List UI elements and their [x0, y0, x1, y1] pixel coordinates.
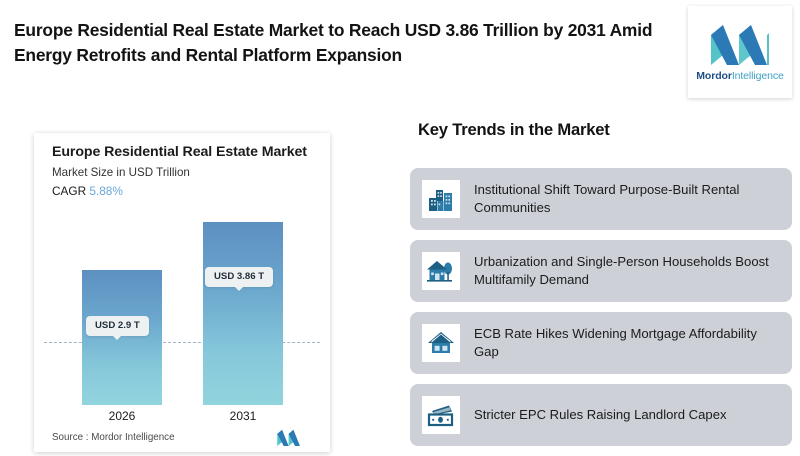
brand-logo-text: MordorIntelligence — [696, 70, 783, 82]
x-axis-label-2026: 2026 — [77, 409, 167, 423]
data-label-2026: USD 2.9 T — [86, 316, 149, 336]
house-icon — [422, 324, 460, 362]
trend-card[interactable]: Institutional Shift Toward Purpose-Built… — [410, 168, 792, 230]
brand-logo: MordorIntelligence — [688, 6, 792, 98]
trends-list: Institutional Shift Toward Purpose-Built… — [410, 168, 792, 456]
header: Europe Residential Real Estate Market to… — [0, 0, 800, 112]
trend-card[interactable]: Stricter EPC Rules Raising Landlord Cape… — [410, 384, 792, 446]
house-with-tree-icon — [422, 252, 460, 290]
trend-card[interactable]: ECB Rate Hikes Widening Mortgage Afforda… — [410, 312, 792, 374]
banknotes-icon — [422, 396, 460, 434]
bar-2031 — [203, 222, 283, 405]
trend-card[interactable]: Urbanization and Single-Person Household… — [410, 240, 792, 302]
brand-name-bold: Mordor — [696, 70, 732, 82]
chart-source: Source : Mordor Intelligence — [52, 432, 175, 443]
x-axis-label-2031: 2031 — [198, 409, 288, 423]
brand-name-light: Intelligence — [732, 70, 784, 82]
trend-card-text: Stricter EPC Rules Raising Landlord Cape… — [474, 406, 737, 424]
mordor-logo-mark — [709, 23, 771, 65]
chart-subtitle: Market Size in USD Trillion — [52, 166, 190, 179]
trends-heading: Key Trends in the Market — [418, 120, 610, 140]
data-label-2031: USD 3.86 T — [205, 267, 273, 287]
trend-card-text: ECB Rate Hikes Widening Mortgage Afforda… — [474, 325, 792, 361]
chart-plot-area: USD 2.9 T USD 3.86 T — [34, 205, 330, 405]
cagr-label: CAGR — [52, 184, 86, 198]
source-logo-icon — [276, 429, 302, 446]
chart-cagr: CAGR 5.88% — [52, 184, 123, 198]
chart-panel: Europe Residential Real Estate Market Ma… — [34, 133, 330, 452]
office-buildings-icon — [422, 180, 460, 218]
page-title: Europe Residential Real Estate Market to… — [14, 18, 666, 68]
cagr-value: 5.88% — [89, 184, 122, 198]
trend-card-text: Institutional Shift Toward Purpose-Built… — [474, 181, 792, 217]
chart-title: Europe Residential Real Estate Market — [52, 144, 307, 160]
trend-card-text: Urbanization and Single-Person Household… — [474, 253, 792, 289]
bar-2026 — [82, 270, 162, 405]
